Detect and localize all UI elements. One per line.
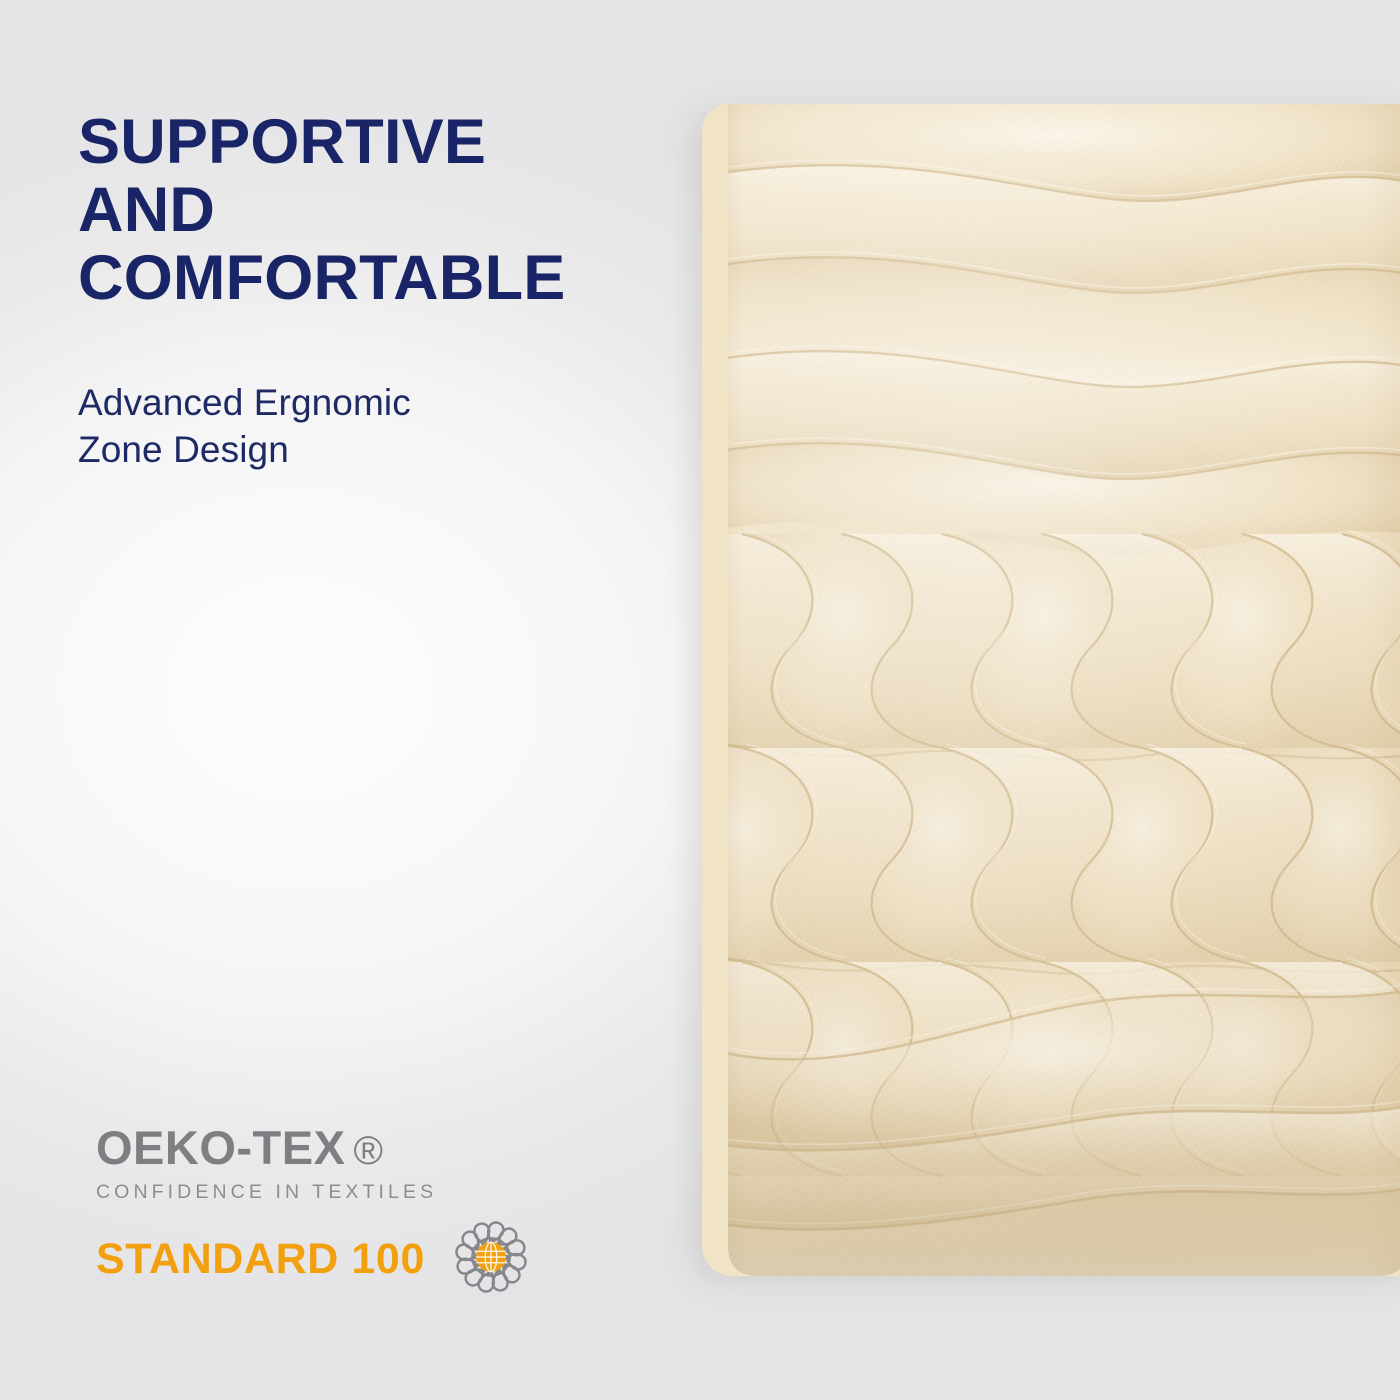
registered-trademark-icon: ® bbox=[353, 1131, 382, 1171]
page-subtitle: Advanced Ergnomic Zone Design bbox=[78, 312, 648, 474]
oeko-tex-standard-row: STANDARD 100 bbox=[96, 1203, 546, 1305]
mattress-quilt-illustration bbox=[702, 104, 1400, 1276]
oeko-tex-certification-badge: OEKO-TEX ® CONFIDENCE IN TEXTILES STANDA… bbox=[96, 1124, 546, 1305]
oeko-tex-standard-label: STANDARD 100 bbox=[96, 1238, 425, 1281]
oeko-tex-tagline: CONFIDENCE IN TEXTILES bbox=[96, 1171, 546, 1203]
page-title: SUPPORTIVE AND COMFORTABLE bbox=[78, 108, 648, 312]
copy-block: SUPPORTIVE AND COMFORTABLE Advanced Ergn… bbox=[78, 108, 648, 474]
oeko-tex-wordmark: OEKO-TEX bbox=[96, 1124, 345, 1171]
oeko-tex-wordmark-row: OEKO-TEX ® bbox=[96, 1124, 546, 1171]
oeko-tex-seal-emblem-icon bbox=[443, 1209, 539, 1305]
promo-image-canvas: SUPPORTIVE AND COMFORTABLE Advanced Ergn… bbox=[0, 0, 1400, 1400]
mattress-product-photo bbox=[702, 104, 1400, 1276]
globe-icon bbox=[476, 1242, 506, 1272]
